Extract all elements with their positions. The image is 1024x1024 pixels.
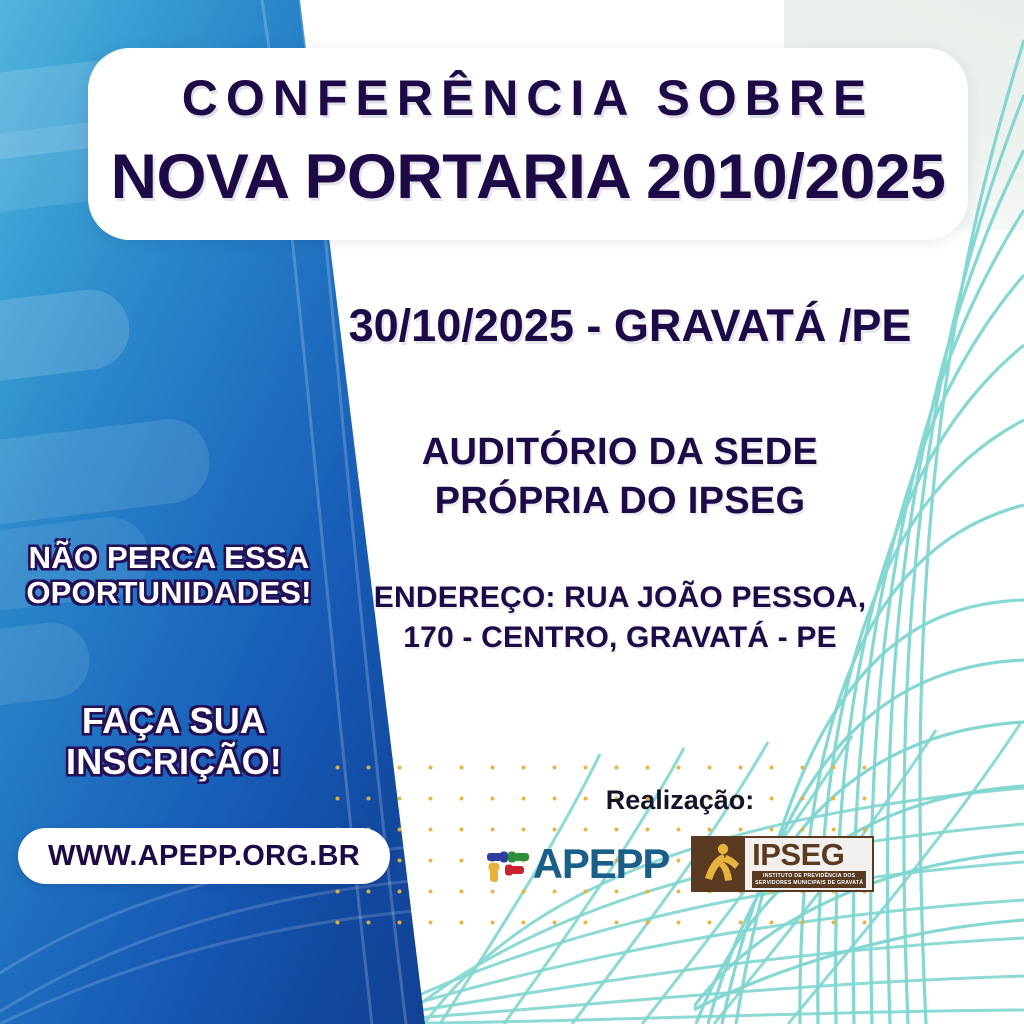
callout-register: FAÇA SUA INSCRIÇÃO! xyxy=(24,700,324,782)
venue-line-2: PRÓPRIA DO IPSEG xyxy=(300,477,940,526)
four-hands-icon xyxy=(486,842,530,886)
human-figure-icon xyxy=(693,838,745,890)
ipseg-wordmark: IPSEG xyxy=(752,840,866,869)
callout-register-line-2: INSCRIÇÃO! xyxy=(24,741,324,782)
page-title-headline: CONFERÊNCIA SOBRE xyxy=(88,72,968,125)
event-date-location: 30/10/2025 - GRAVATÁ /PE xyxy=(300,300,960,352)
callout-opportunity: NÃO PERCA ESSA OPORTUNIDADES! xyxy=(4,540,334,611)
ipseg-subtitle: INSTITUTO DE PREVIDÊNCIA DOS SERVIDORES … xyxy=(752,871,866,888)
event-address: ENDEREÇO: RUA JOÃO PESSOA, 170 - CENTRO,… xyxy=(300,578,940,657)
callout-register-line-1: FAÇA SUA xyxy=(24,700,324,741)
apepp-wordmark: APEPP xyxy=(533,843,669,885)
website-url-text: WWW.APEPP.ORG.BR xyxy=(48,840,360,873)
event-flyer: CONFERÊNCIA SOBRE NOVA PORTARIA 2010/202… xyxy=(0,0,1024,1024)
apepp-logo: APEPP xyxy=(486,842,669,886)
ipseg-text-block: IPSEG INSTITUTO DE PREVIDÊNCIA DOS SERVI… xyxy=(745,838,872,890)
ipseg-logo: IPSEG INSTITUTO DE PREVIDÊNCIA DOS SERVI… xyxy=(691,836,874,892)
website-url-pill[interactable]: WWW.APEPP.ORG.BR xyxy=(18,828,390,884)
callout-opportunity-line-2: OPORTUNIDADES! xyxy=(4,575,334,610)
realization-label: Realização: xyxy=(470,785,890,816)
address-line-2: 170 - CENTRO, GRAVATÁ - PE xyxy=(300,618,940,658)
event-venue: AUDITÓRIO DA SEDE PRÓPRIA DO IPSEG xyxy=(300,428,940,525)
venue-line-1: AUDITÓRIO DA SEDE xyxy=(300,428,940,477)
callout-opportunity-line-1: NÃO PERCA ESSA xyxy=(4,540,334,575)
page-title-subheadline: NOVA PORTARIA 2010/2025 xyxy=(79,146,977,209)
address-line-1: ENDEREÇO: RUA JOÃO PESSOA, xyxy=(300,578,940,618)
partner-logos-row: APEPP IPSEG INSTITUTO DE PREVIDÊNCIA DOS… xyxy=(470,832,890,896)
